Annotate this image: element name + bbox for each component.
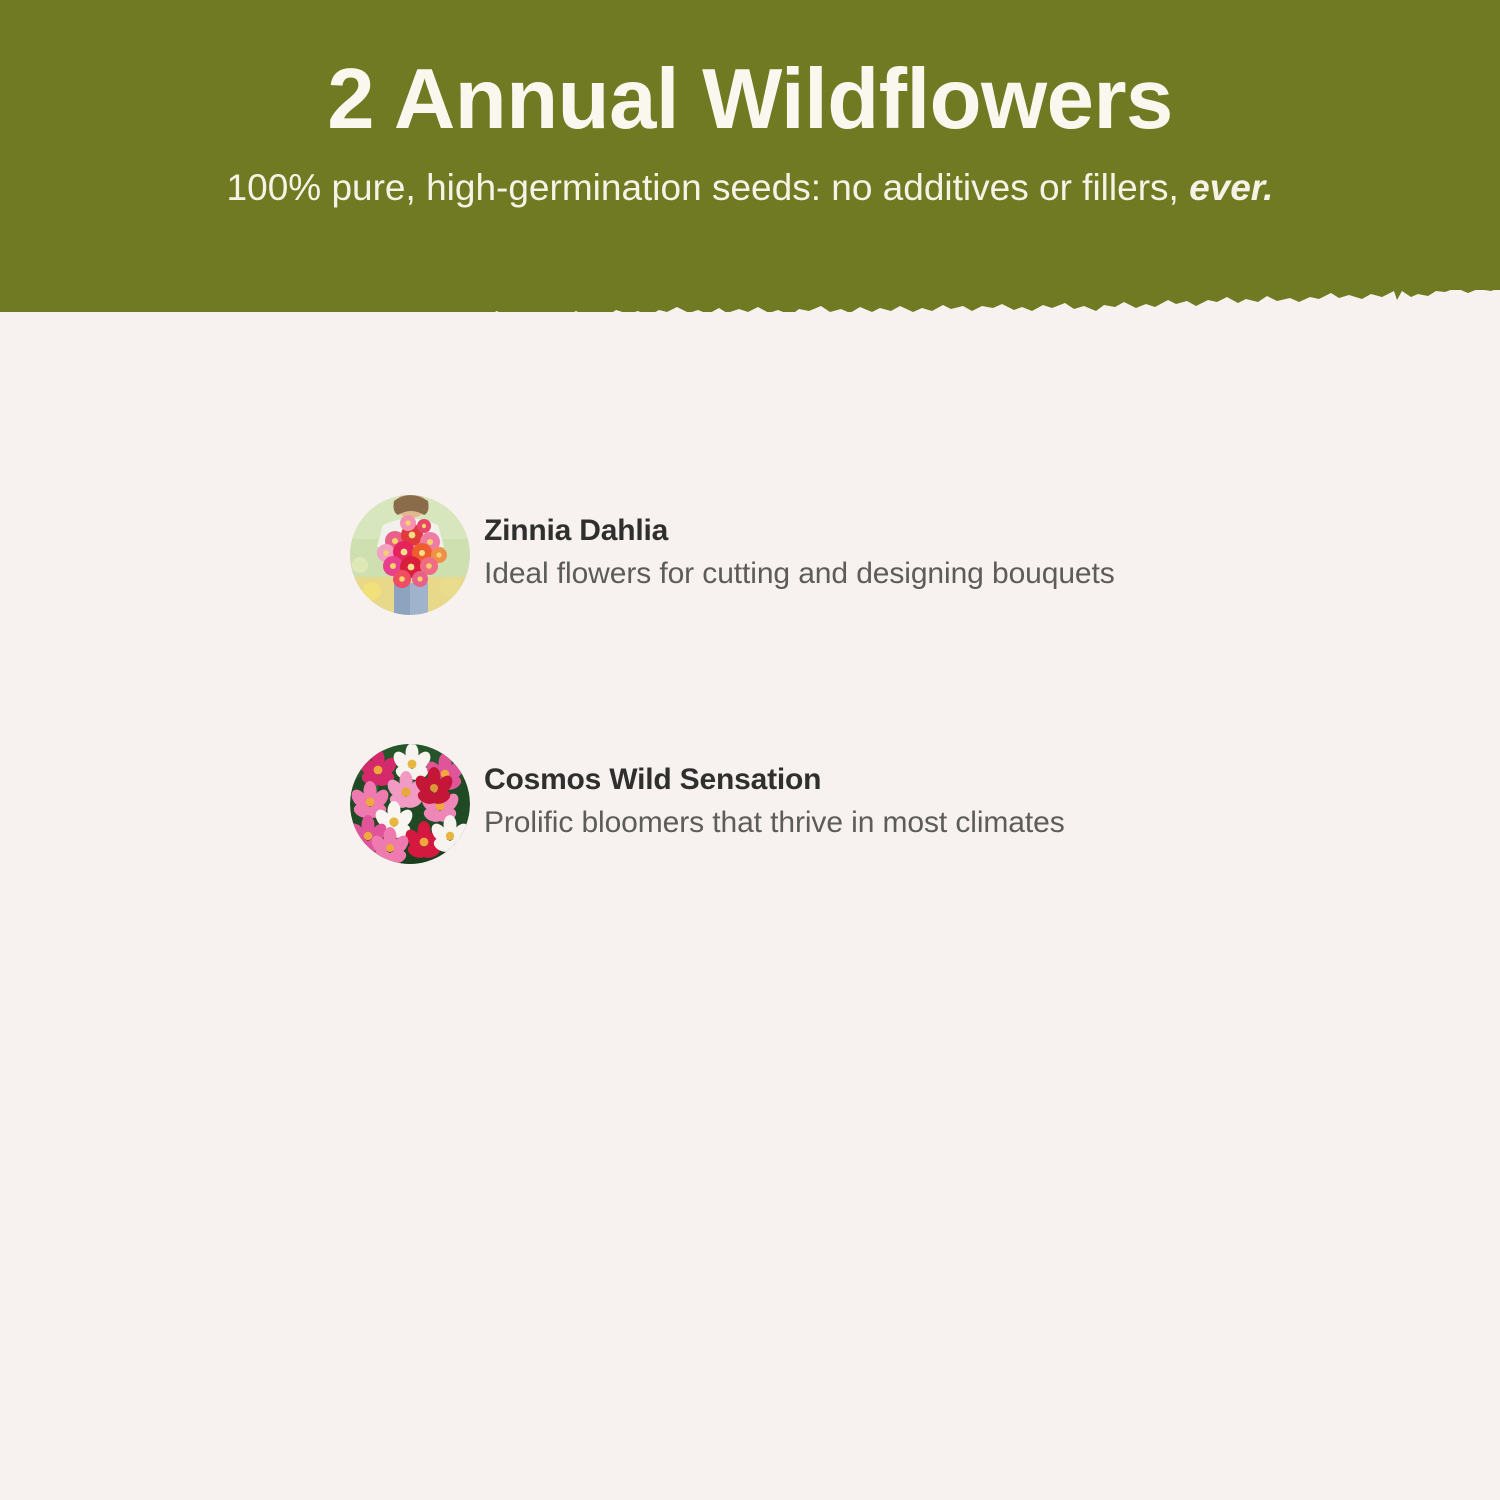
page-title: 2 Annual Wildflowers: [0, 55, 1500, 145]
cosmos-wild-sensation-thumbnail-graphic: [350, 744, 470, 864]
list-item: Cosmos Wild Sensation Prolific bloomers …: [350, 744, 1250, 864]
banner-subtitle-emphasis: ever.: [1189, 167, 1273, 208]
product-feature-card: 2 Annual Wildflowers 100% pure, high-ger…: [0, 0, 1500, 1500]
wildflower-variety-list: Zinnia Dahlia Ideal flowers for cutting …: [350, 495, 1250, 864]
feature-description: Ideal flowers for cutting and designing …: [484, 555, 1250, 593]
cosmos-wild-sensation-photo: [350, 744, 470, 864]
list-item: Zinnia Dahlia Ideal flowers for cutting …: [350, 495, 1250, 615]
feature-title: Cosmos Wild Sensation: [484, 761, 1250, 799]
feature-description: Prolific bloomers that thrive in most cl…: [484, 804, 1250, 842]
banner-subtitle: 100% pure, high-germination seeds: no ad…: [0, 166, 1500, 210]
feature-text-block: Zinnia Dahlia Ideal flowers for cutting …: [484, 495, 1250, 593]
feature-text-block: Cosmos Wild Sensation Prolific bloomers …: [484, 744, 1250, 842]
banner-text-group: 2 Annual Wildflowers 100% pure, high-ger…: [0, 0, 1500, 270]
zinnia-dahlia-thumbnail-graphic: [350, 495, 470, 615]
header-banner: 2 Annual Wildflowers 100% pure, high-ger…: [0, 0, 1500, 312]
zinnia-dahlia-bouquet-photo: [350, 495, 470, 615]
torn-paper-edge-divider: [0, 264, 1500, 312]
banner-subtitle-text: 100% pure, high-germination seeds: no ad…: [227, 167, 1179, 208]
feature-title: Zinnia Dahlia: [484, 512, 1250, 550]
